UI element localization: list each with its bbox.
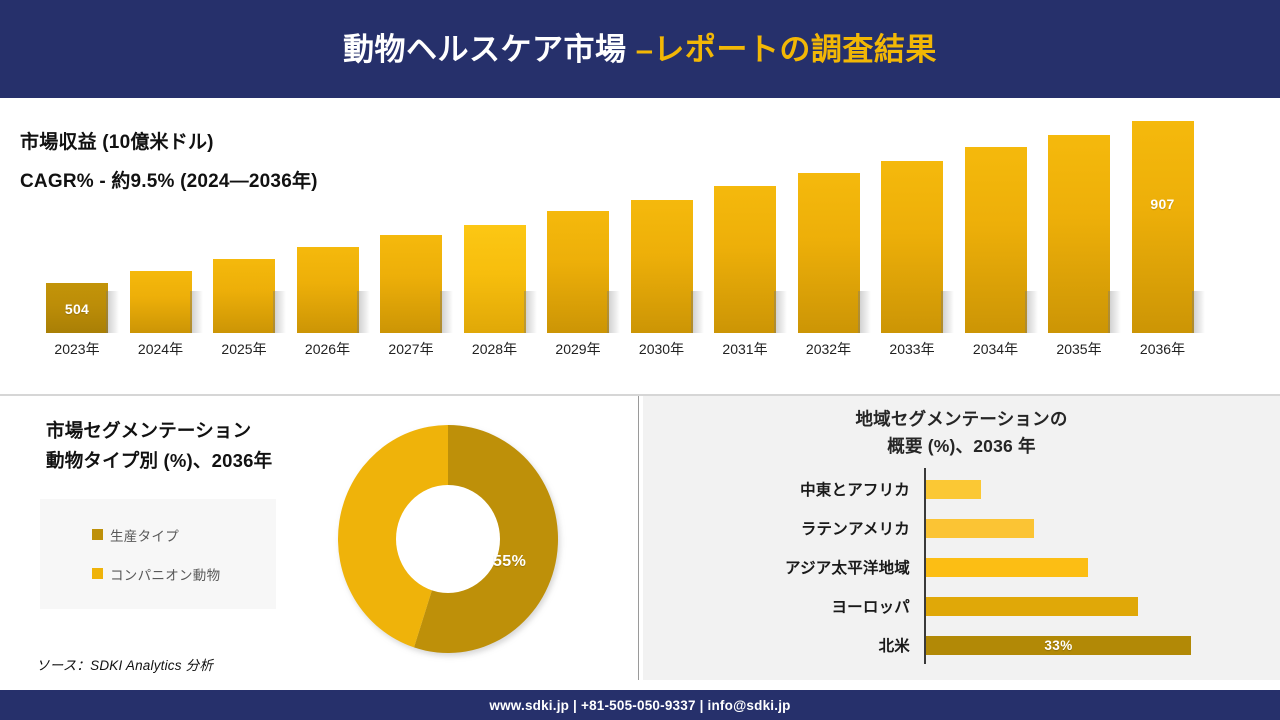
infographic-page: 動物ヘルスケア市場 –レポートの調査結果 市場収益 (10億米ドル) CAGR%… — [0, 0, 1280, 720]
bar-shadow — [858, 291, 871, 333]
bar-shadow — [1108, 291, 1121, 333]
revenue-bar-slot — [881, 161, 943, 333]
donut-data-label: 55% — [493, 553, 526, 571]
region-panel: 地域セグメンテーションの 概要 (%)、2036 年 中東とアフリカラテンアメリ… — [643, 396, 1280, 680]
revenue-bar — [798, 173, 860, 333]
donut-hole — [396, 485, 500, 593]
bar-shadow — [273, 291, 286, 333]
revenue-bar-slot — [380, 235, 442, 333]
donut-title: 市場セグメンテーション 動物タイプ別 (%)、2036年 — [46, 416, 346, 476]
page-title: 動物ヘルスケア市場 –レポートの調査結果 — [343, 34, 937, 65]
region-title-line1: 地域セグメンテーションの — [643, 406, 1280, 433]
footer-contact: www.sdki.jp | +81-505-050-9337 | info@sd… — [489, 698, 790, 713]
vertical-divider — [638, 396, 639, 680]
revenue-bar — [547, 211, 609, 333]
donut-chart: 55% — [318, 408, 578, 670]
revenue-bar — [1048, 135, 1110, 333]
revenue-x-label: 2024年 — [121, 339, 201, 359]
revenue-chart-panel: 市場収益 (10億米ドル) CAGR% - 約9.5% (2024―2036年)… — [0, 101, 1280, 394]
donut-legend: 生産タイプ コンパニオン動物 — [40, 499, 276, 609]
bar-shadow — [357, 291, 370, 333]
bar-shadow — [774, 291, 787, 333]
revenue-bar-chart: 504907 2023年2024年2025年2026年2027年2028年202… — [40, 125, 1250, 359]
revenue-x-label: 2033年 — [872, 339, 952, 359]
region-bar — [926, 519, 1034, 538]
revenue-bar — [380, 235, 442, 333]
revenue-bar — [130, 271, 192, 333]
region-label: 北米 — [643, 634, 918, 656]
bar-shadow — [941, 291, 954, 333]
revenue-bar-slot — [297, 247, 359, 333]
region-bar-chart: 中東とアフリカラテンアメリカアジア太平洋地域ヨーロッパ北米33% — [643, 468, 1280, 664]
page-footer: www.sdki.jp | +81-505-050-9337 | info@sd… — [0, 690, 1280, 720]
revenue-x-label: 2034年 — [956, 339, 1036, 359]
bar-shadow — [440, 291, 453, 333]
region-row: 中東とアフリカ — [643, 470, 1280, 508]
region-title: 地域セグメンテーションの 概要 (%)、2036 年 — [643, 406, 1280, 460]
region-bar-value: 33% — [1044, 638, 1072, 653]
region-bar — [926, 480, 981, 499]
revenue-x-label: 2026年 — [288, 339, 368, 359]
revenue-x-label: 2035年 — [1039, 339, 1119, 359]
revenue-bar-slot — [130, 271, 192, 333]
revenue-x-label: 2023年 — [37, 339, 117, 359]
bar-shadow — [691, 291, 704, 333]
revenue-bar-slot: 907 — [1132, 121, 1194, 333]
revenue-bar — [631, 200, 693, 333]
legend-swatch-icon — [92, 529, 103, 540]
region-row: アジア太平洋地域 — [643, 548, 1280, 586]
revenue-bar: 907 — [1132, 121, 1194, 333]
revenue-bar — [881, 161, 943, 333]
bar-shadow — [1025, 291, 1038, 333]
revenue-bar — [297, 247, 359, 333]
revenue-bar: 504 — [46, 283, 108, 333]
revenue-bar-slot — [464, 225, 526, 333]
revenue-bar-slot — [213, 259, 275, 333]
revenue-bar-value: 504 — [46, 301, 108, 317]
region-label: 中東とアフリカ — [643, 478, 918, 500]
source-note: ソース：SDKI Analytics 分析 — [36, 654, 213, 674]
page-title-accent: –レポートの調査結果 — [636, 32, 937, 67]
bar-shadow — [607, 291, 620, 333]
region-label: ヨーロッパ — [643, 595, 918, 617]
revenue-bar-slot — [547, 211, 609, 333]
region-bar: 33% — [926, 636, 1191, 655]
revenue-bar — [714, 186, 776, 333]
revenue-bar-value: 907 — [1132, 196, 1194, 212]
legend-label-companion: コンパニオン動物 — [110, 564, 220, 584]
bar-shadow — [1192, 291, 1205, 333]
revenue-x-label: 2029年 — [538, 339, 618, 359]
bar-shadow — [524, 291, 537, 333]
region-row: 北米33% — [643, 626, 1280, 664]
legend-swatch-icon — [92, 568, 103, 579]
donut-title-line1: 市場セグメンテーション — [46, 416, 346, 446]
revenue-x-label: 2036年 — [1123, 339, 1203, 359]
revenue-bar-slot — [714, 186, 776, 333]
revenue-bar-slot — [631, 200, 693, 333]
region-label: ラテンアメリカ — [643, 517, 918, 539]
page-title-main: 動物ヘルスケア市場 — [343, 32, 636, 67]
legend-label-production: 生産タイプ — [110, 525, 179, 545]
legend-item-companion: コンパニオン動物 — [92, 564, 276, 584]
revenue-bar — [464, 225, 526, 333]
donut-title-line2: 動物タイプ別 (%)、2036年 — [46, 446, 346, 476]
revenue-bar-slot — [798, 173, 860, 333]
revenue-bar-slot — [1048, 135, 1110, 333]
region-bar — [926, 597, 1138, 616]
revenue-x-label: 2025年 — [204, 339, 284, 359]
revenue-x-label: 2031年 — [705, 339, 785, 359]
revenue-bars-plot: 504907 — [40, 125, 1250, 333]
revenue-bar — [213, 259, 275, 333]
revenue-x-label: 2032年 — [789, 339, 869, 359]
legend-item-production: 生産タイプ — [92, 525, 276, 545]
bar-shadow — [190, 291, 203, 333]
revenue-bar — [965, 147, 1027, 333]
region-label: アジア太平洋地域 — [643, 556, 918, 578]
revenue-x-label: 2027年 — [371, 339, 451, 359]
region-bar — [926, 558, 1088, 577]
region-row: ヨーロッパ — [643, 587, 1280, 625]
revenue-bar-slot: 504 — [46, 283, 108, 333]
revenue-bar-slot — [965, 147, 1027, 333]
region-title-line2: 概要 (%)、2036 年 — [643, 433, 1280, 460]
region-row: ラテンアメリカ — [643, 509, 1280, 547]
segmentation-panel: 市場セグメンテーション 動物タイプ別 (%)、2036年 生産タイプ コンパニオ… — [0, 396, 638, 680]
page-header: 動物ヘルスケア市場 –レポートの調査結果 — [0, 0, 1280, 98]
revenue-x-label: 2028年 — [455, 339, 535, 359]
donut-svg — [318, 408, 578, 670]
revenue-x-label: 2030年 — [622, 339, 702, 359]
